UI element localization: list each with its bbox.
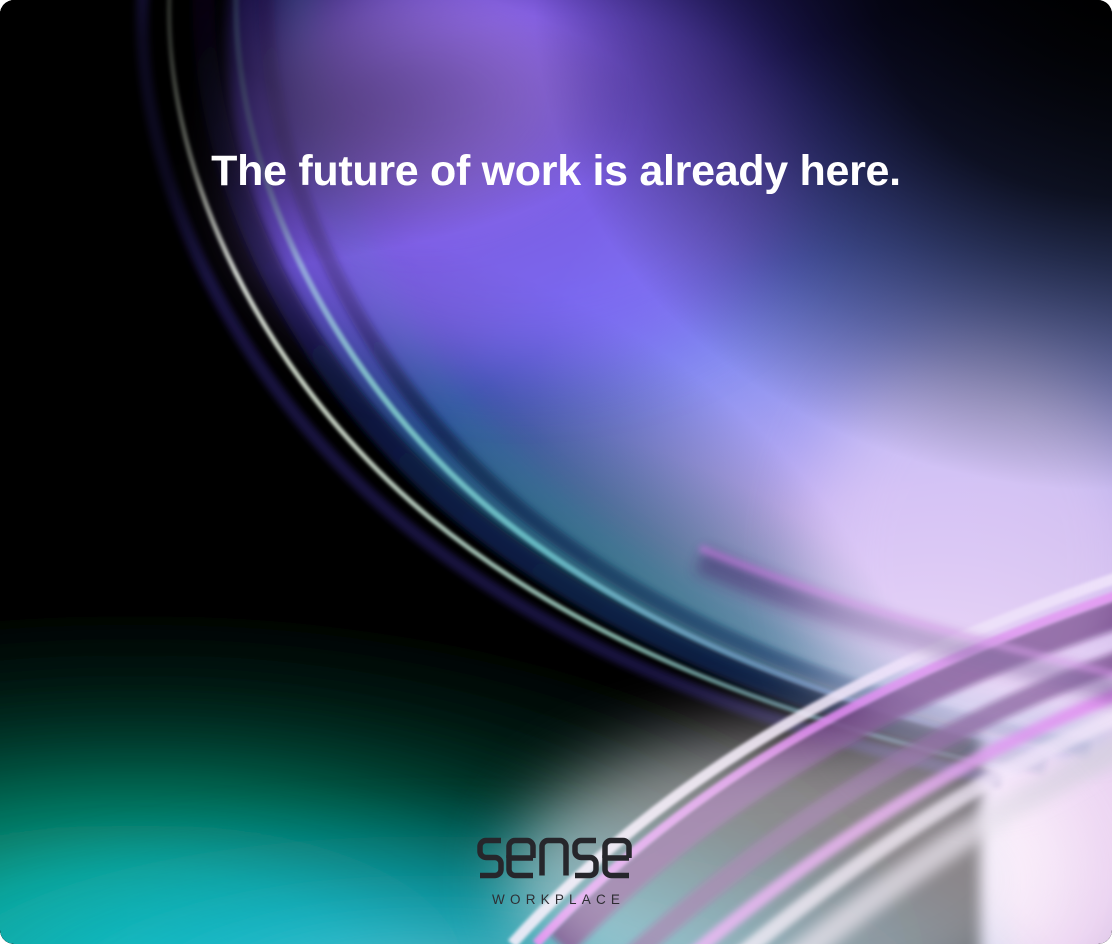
art-vignette-left <box>0 0 1112 280</box>
brand-tagline: WORKPLACE <box>487 893 625 907</box>
brand-lockup: sense WORKPLACE <box>0 835 1112 907</box>
art-vignette-top-right <box>0 0 1112 944</box>
art-ribbon-dark-band <box>204 0 1046 764</box>
art-ribbon-transition-magenta <box>700 548 1112 678</box>
art-lavender-bloom <box>810 340 1112 780</box>
background-artwork <box>0 0 1112 944</box>
art-base-fill <box>0 0 1112 944</box>
art-ribbon-dark-band-2 <box>266 0 1090 750</box>
art-black-void <box>0 0 980 944</box>
art-cyan-band <box>0 0 1112 944</box>
gradient-artwork-svg <box>0 0 1112 944</box>
art-sky-band <box>0 0 1112 944</box>
art-ribbon-transition-shadow <box>700 560 1112 690</box>
page-title: The future of work is already here. <box>0 148 1112 195</box>
art-purple-bloom <box>0 0 1112 944</box>
art-blue-field <box>0 0 1112 944</box>
art-pink-wash <box>0 0 1112 944</box>
art-ribbon-teal-line <box>236 0 1070 758</box>
art-ribbon-teal-glow <box>299 0 1110 742</box>
art-left-edge-black <box>0 0 352 500</box>
art-black-void-core <box>0 0 930 944</box>
sense-wordmark-logo: sense <box>477 835 635 881</box>
art-green-wash <box>0 0 1112 944</box>
art-ribbon-grey-line <box>720 704 1112 944</box>
art-ribbon-indigo-outer <box>142 0 1000 780</box>
art-ribbon-cream-line <box>169 0 1020 772</box>
poster-canvas: The future of work is already here. sens… <box>0 0 1112 944</box>
